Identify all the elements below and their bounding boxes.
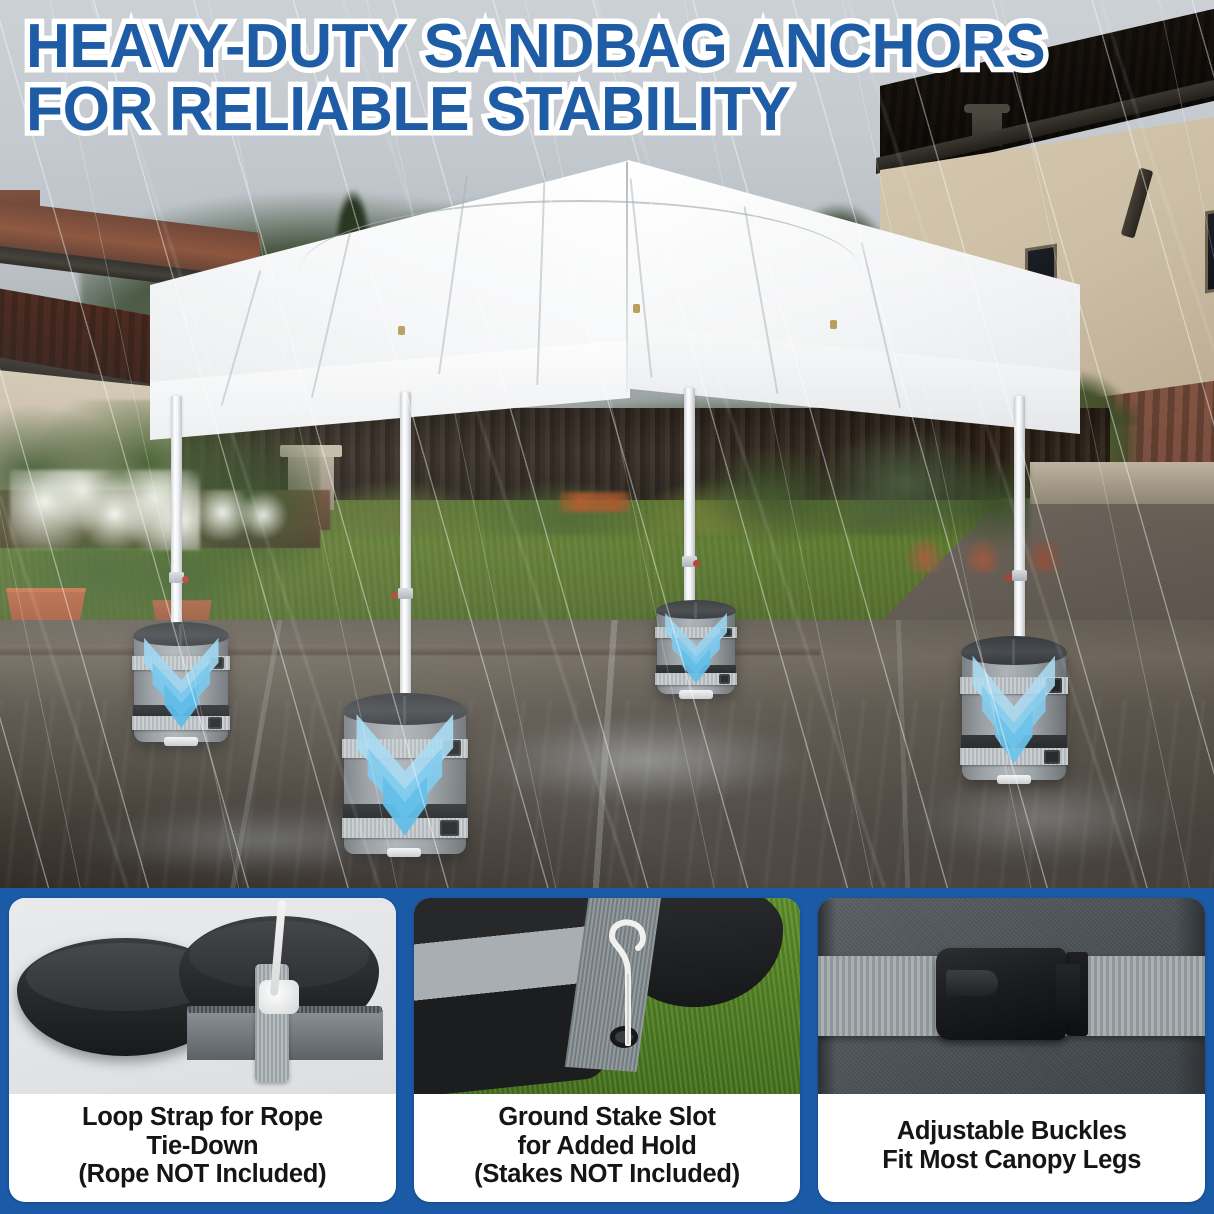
rope-knot [259,980,299,1014]
panel-card: Ground Stake Slot for Added Hold (Stakes… [414,898,801,1202]
caption-line: (Rope NOT Included) [78,1160,326,1189]
canopy-tab [830,320,837,329]
stake-hook-icon [602,916,654,1046]
sandbag-anchor-2 [344,706,466,854]
sandbag-anchor-1 [134,632,228,742]
feature-panel-buckles[interactable]: Adjustable Buckles Fit Most Canopy Legs [809,888,1214,1214]
caption-line: Ground Stake Slot [498,1103,715,1132]
panel-photo-stake-slot [414,898,801,1094]
down-force-arrow [139,634,224,740]
panel-photo-buckles [818,898,1205,1094]
leg-foot-plate [164,737,198,746]
leg-lock-pin [391,592,398,599]
leg-foot-plate [679,690,713,699]
canopy-tab [398,326,405,335]
headline-line-2: FOR RELIABLE STABILITY [26,81,1182,138]
caption-line: Fit Most Canopy Legs [882,1146,1141,1175]
leg-lock-pin [182,576,189,583]
side-release-buckle [936,948,1066,1040]
feature-panel-loop-strap[interactable]: Loop Strap for Rope Tie-Down (Rope NOT I… [0,888,405,1214]
leg-lock-pin [693,560,700,567]
panel-caption-stake-slot: Ground Stake Slot for Added Hold (Stakes… [414,1094,801,1202]
sandbag-anchor-4 [962,648,1066,780]
leg-lock-pin [1005,574,1012,581]
caption-line: (Stakes NOT Included) [474,1160,740,1189]
down-force-arrow [661,610,731,693]
headline: HEAVY-DUTY SANDBAG ANCHORS FOR RELIABLE … [26,18,1206,138]
panel-photo-loop-strap [9,898,396,1094]
feature-panel-stake-slot[interactable]: Ground Stake Slot for Added Hold (Stakes… [405,888,810,1214]
caption-line: Tie-Down [146,1132,258,1161]
canopy-leg-back-center [684,388,695,628]
caption-line: Adjustable Buckles [897,1117,1127,1146]
down-force-arrow [967,651,1061,778]
down-force-arrow [350,709,460,851]
leg-foot-plate [387,848,421,857]
product-infographic: HEAVY-DUTY SANDBAG ANCHORS FOR RELIABLE … [0,0,1214,1214]
caption-line: Loop Strap for Rope [82,1103,323,1132]
canopy-leg-front-center [400,392,411,722]
canopy-tab [633,304,640,313]
caption-line: for Added Hold [518,1132,697,1161]
leg-height-cuff [1012,570,1027,581]
canopy-peak-seam [626,162,628,392]
leg-foot-plate [997,775,1031,784]
leg-height-cuff [398,588,413,599]
panel-card: Adjustable Buckles Fit Most Canopy Legs [818,898,1205,1202]
panel-caption-buckles: Adjustable Buckles Fit Most Canopy Legs [818,1094,1205,1202]
feature-panels: Loop Strap for Rope Tie-Down (Rope NOT I… [0,888,1214,1214]
sandbag-anchor-3 [657,608,735,694]
panel-card: Loop Strap for Rope Tie-Down (Rope NOT I… [9,898,396,1202]
headline-line-1: HEAVY-DUTY SANDBAG ANCHORS [26,18,1182,75]
panel-caption-loop-strap: Loop Strap for Rope Tie-Down (Rope NOT I… [9,1094,396,1202]
